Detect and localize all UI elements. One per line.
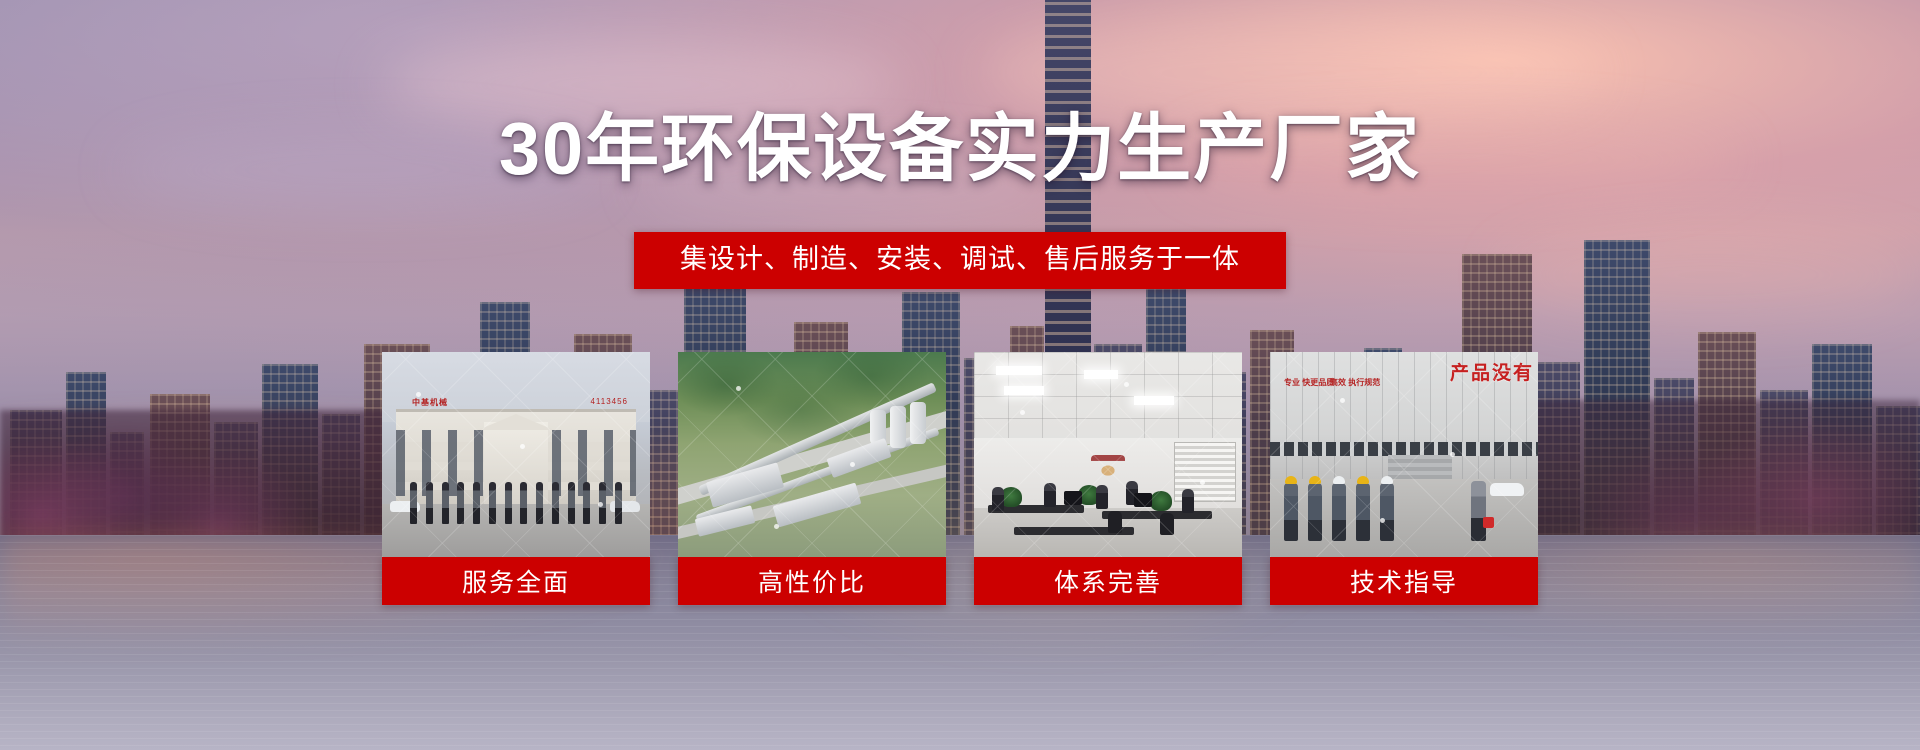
card-photo-office-interior-with-employees	[974, 352, 1242, 557]
staff-lineup	[410, 482, 622, 524]
factory-wall-slogan-small: 专业 快更品质	[1284, 378, 1334, 388]
hero-banner: 30年环保设备实力生产厂家 集设计、制造、安装、调试、售后服务于一体 中基机械 …	[0, 0, 1920, 750]
feature-card[interactable]: 产品没有 专业 快更品质 高效 执行规范	[1270, 352, 1538, 605]
card-label[interactable]: 体系完善	[974, 557, 1242, 605]
card-photo-company-office-building-with-staff: 中基机械 4113456	[382, 352, 650, 557]
feature-card[interactable]: 中基机械 4113456 服务全面	[382, 352, 650, 605]
factory-wall-slogan-small: 高效 执行规范	[1330, 378, 1380, 388]
card-photo-aerial-view-of-production-plant	[678, 352, 946, 557]
building-phone-text: 4113456	[590, 397, 628, 406]
card-photo-factory-yard-with-workers: 产品没有 专业 快更品质 高效 执行规范	[1270, 352, 1538, 557]
feature-card-row: 中基机械 4113456 服务全面	[0, 352, 1920, 605]
card-label[interactable]: 技术指导	[1270, 557, 1538, 605]
subtitle-ribbon-wrap: 集设计、制造、安装、调试、售后服务于一体	[0, 232, 1920, 289]
office-wall-logo	[1091, 455, 1125, 481]
subtitle-ribbon: 集设计、制造、安装、调试、售后服务于一体	[634, 232, 1286, 289]
feature-card[interactable]: 体系完善	[974, 352, 1242, 605]
feature-card[interactable]: 高性价比	[678, 352, 946, 605]
page-title: 30年环保设备实力生产厂家	[0, 112, 1920, 186]
factory-wall-slogan: 产品没有	[1450, 358, 1534, 385]
card-label[interactable]: 服务全面	[382, 557, 650, 605]
building-sign-text: 中基机械	[412, 397, 448, 408]
card-label[interactable]: 高性价比	[678, 557, 946, 605]
